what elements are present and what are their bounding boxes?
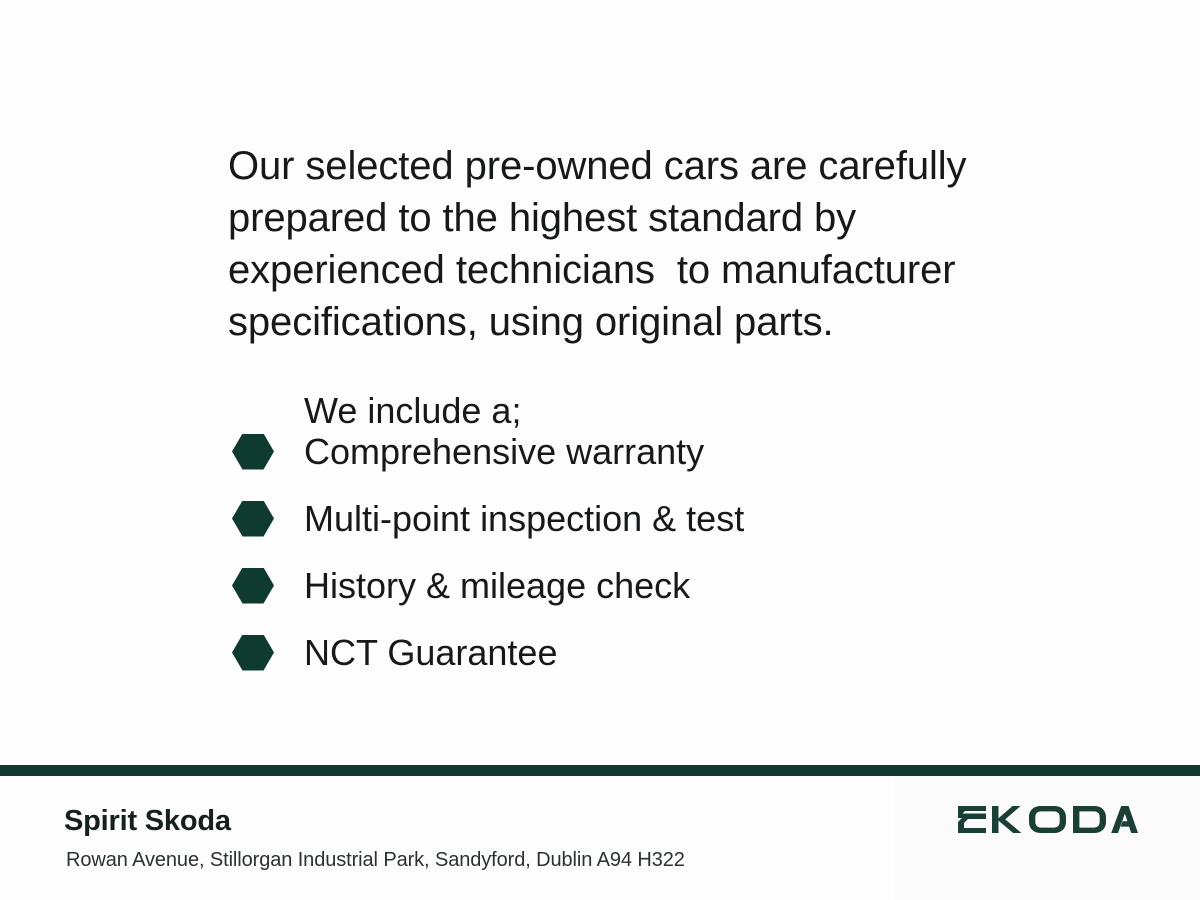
slide-footer <box>0 776 1200 900</box>
list-item-label: History & mileage check <box>304 564 690 608</box>
list-item-label: Comprehensive warranty <box>304 430 704 474</box>
list-item: Multi-point inspection & test <box>232 485 992 552</box>
list-item-label: Multi-point inspection & test <box>304 497 744 541</box>
list-item: Comprehensive warranty <box>232 418 992 485</box>
list-item: History & mileage check <box>232 552 992 619</box>
dealer-address: Rowan Avenue, Stillorgan Industrial Park… <box>66 849 685 872</box>
headline-text: Our selected pre-owned cars are carefull… <box>228 140 998 348</box>
dealer-name: Spirit Skoda <box>64 805 231 838</box>
slide-content: Our selected pre-owned cars are carefull… <box>0 0 1200 765</box>
hexagon-bullet-icon <box>232 635 274 671</box>
list-item-label: NCT Guarantee <box>304 631 557 675</box>
promo-slide: Our selected pre-owned cars are carefull… <box>0 0 1200 900</box>
list-item: NCT Guarantee <box>232 619 992 686</box>
footer-divider-bar <box>0 765 1200 776</box>
hexagon-bullet-icon <box>232 434 274 470</box>
hexagon-bullet-icon <box>232 568 274 604</box>
logo-panel <box>895 776 1200 900</box>
benefits-list: Comprehensive warranty Multi-point inspe… <box>232 418 992 686</box>
hexagon-bullet-icon <box>232 501 274 537</box>
skoda-wordmark-logo <box>956 802 1138 838</box>
